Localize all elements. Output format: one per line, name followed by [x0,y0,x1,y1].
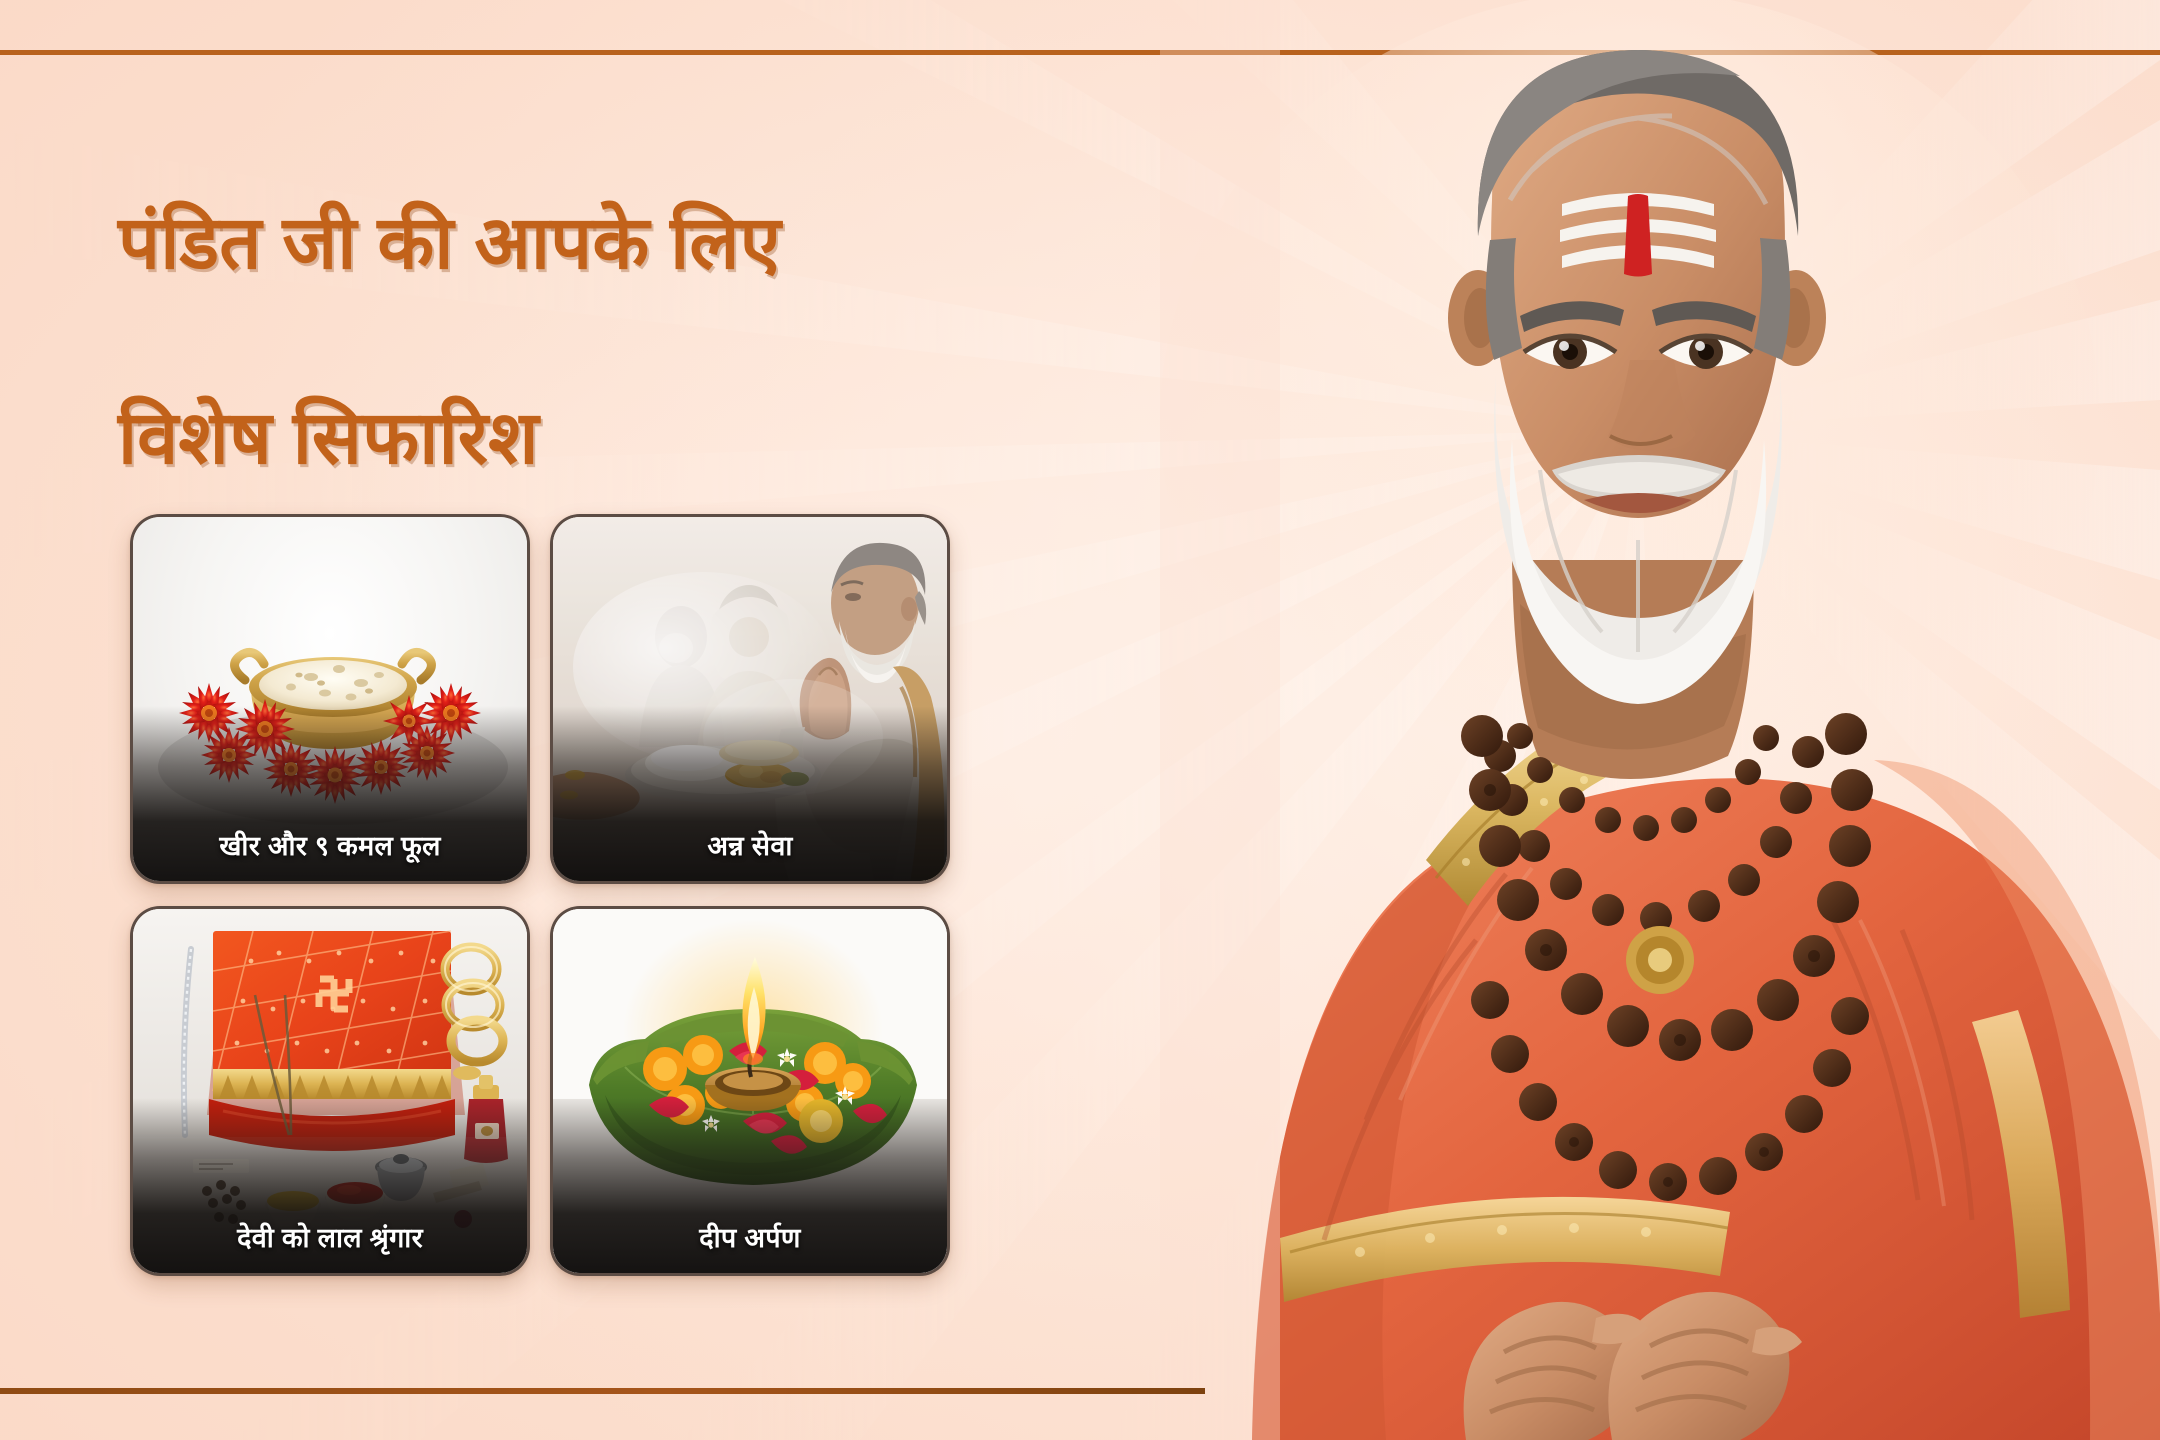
card-caption-anna-seva: अन्न सेवा [553,826,947,863]
card-caption-deep-arpan: दीप अर्पण [553,1218,947,1255]
recommendation-card-grid: खीर और ९ कमल फूल [130,514,950,1304]
card-caption-devi-lal-shringar: देवी को लाल श्रृंगार [133,1218,527,1255]
recommendation-card-deep-arpan[interactable]: दीप अर्पण [550,906,950,1276]
page-title-line-1: पंडित जी की आपके लिए [118,194,1158,292]
recommendation-card-devi-lal-shringar[interactable]: देवी को लाल श्रृंगार [130,906,530,1276]
card-caption-kheer-lotus: खीर और ९ कमल फूल [133,826,527,863]
page-title: पंडित जी की आपके लिए विशेष सिफारिश [118,96,1158,584]
recommendation-card-kheer-lotus[interactable]: खीर और ९ कमल फूल [130,514,530,884]
pandit-ji-portrait [1160,0,2160,1440]
recommendation-card-anna-seva[interactable]: अन्न सेवा [550,514,950,884]
poster-canvas: पंडित जी की आपके लिए विशेष सिफारिश [0,0,2160,1440]
bottom-divider-rule [0,1388,1205,1394]
page-title-line-2: विशेष सिफारिश [118,389,1158,487]
